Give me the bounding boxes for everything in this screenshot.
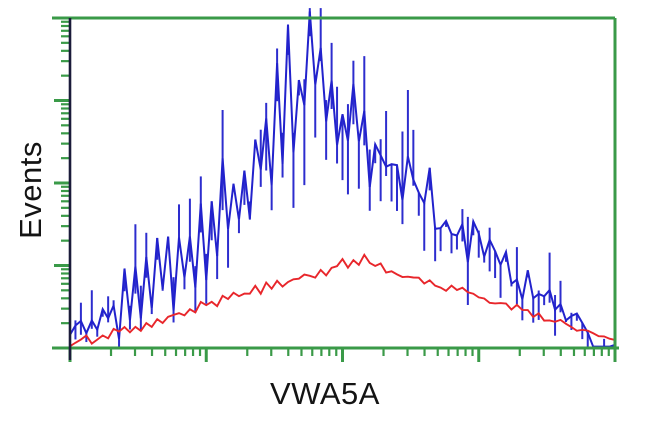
x-axis-title: VWA5A [0, 376, 650, 412]
y-axis-title: Events [13, 95, 49, 285]
plot-background [0, 0, 650, 432]
histogram-plot [0, 0, 650, 432]
flow-cytometry-figure: Events VWA5A [0, 0, 650, 432]
